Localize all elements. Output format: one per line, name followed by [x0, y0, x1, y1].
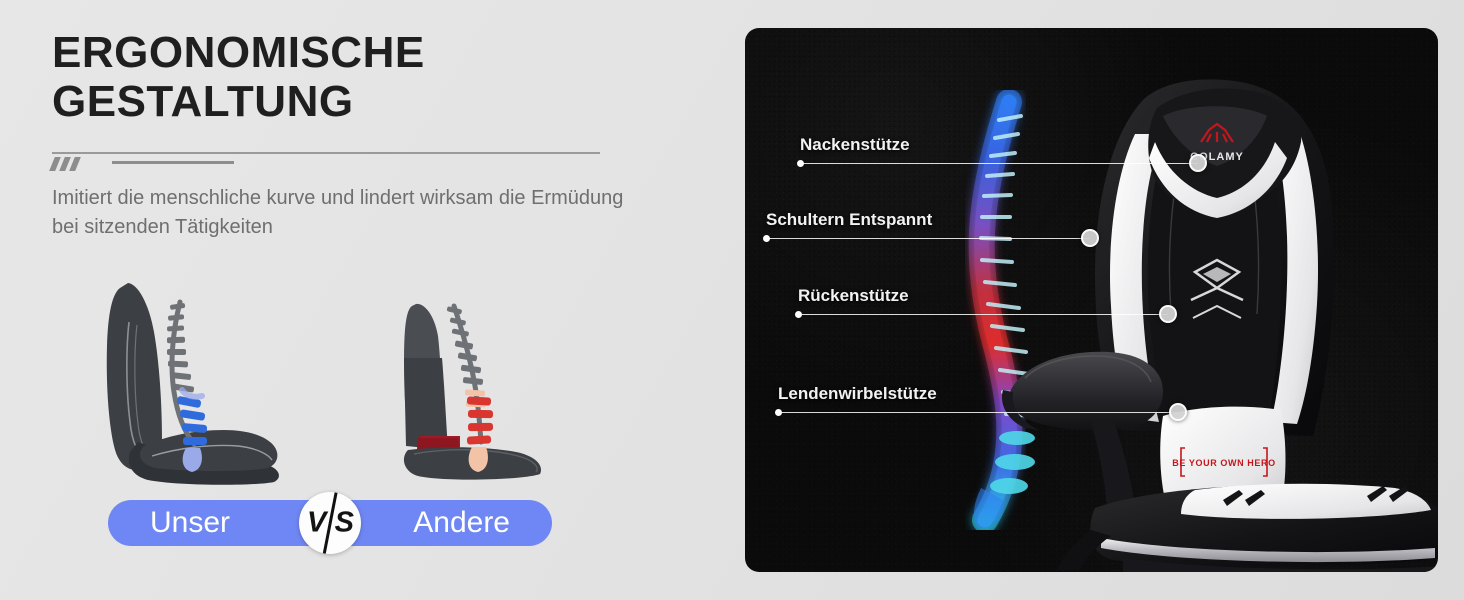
callout-label-back: Rückenstütze — [798, 286, 909, 306]
callout-start-dot — [763, 235, 770, 242]
callout-end-marker — [1081, 229, 1099, 247]
promo-banner: ERGONOMISCHE GESTALTUNG Imitiert die men… — [0, 0, 1464, 600]
vs-badge-icon: V S — [299, 492, 361, 554]
callout-start-dot — [797, 160, 804, 167]
callout-back: Rückenstütze — [798, 314, 1168, 315]
subtitle-text: Imitiert die menschliche kurve und linde… — [52, 184, 652, 242]
vs-right-letter: S — [335, 507, 354, 540]
callout-label-neck: Nackenstütze — [800, 135, 910, 155]
callout-start-dot — [775, 409, 782, 416]
callout-line — [778, 412, 1178, 413]
callout-end-marker — [1159, 305, 1177, 323]
callout-label-lumbar: Lendenwirbelstütze — [778, 384, 937, 404]
seat-cushion — [1090, 484, 1438, 572]
callout-neck: Nackenstütze — [800, 163, 1198, 164]
comparison-illustrations — [52, 270, 612, 490]
left-content-column: ERGONOMISCHE GESTALTUNG Imitiert die men… — [0, 0, 720, 600]
headline-line-2: GESTALTUNG — [52, 77, 672, 126]
our-chair-illustration — [82, 270, 312, 490]
comparison-toggle-bar[interactable]: Unser Andere V S — [108, 500, 552, 546]
vs-left-letter: V — [307, 507, 326, 540]
label-theirs[interactable]: Andere — [413, 500, 510, 546]
gaming-chair-photo: COLAMY BE YOUR OWN HERO — [995, 38, 1438, 572]
callout-line — [800, 163, 1198, 164]
callout-end-marker — [1189, 154, 1207, 172]
divider-accent-rule — [112, 161, 234, 164]
label-ours[interactable]: Unser — [150, 500, 230, 546]
callout-line — [766, 238, 1090, 239]
headline-line-1: ERGONOMISCHE — [52, 28, 672, 77]
product-photo-panel: COLAMY BE YOUR OWN HERO — [745, 28, 1438, 572]
page-title: ERGONOMISCHE GESTALTUNG — [52, 28, 672, 127]
title-divider — [52, 152, 600, 174]
divider-top-rule — [52, 152, 600, 154]
slash-marks-icon — [52, 157, 92, 171]
callout-label-shoulders: Schultern Entspannt — [766, 210, 932, 230]
callout-start-dot — [795, 311, 802, 318]
svg-text:BE YOUR OWN HERO: BE YOUR OWN HERO — [1172, 458, 1275, 468]
callout-line — [798, 314, 1168, 315]
callout-end-marker — [1169, 403, 1187, 421]
other-chair-illustration — [348, 270, 578, 490]
callout-shoulders: Schultern Entspannt — [766, 238, 1090, 239]
callout-lumbar: Lendenwirbelstütze — [778, 412, 1178, 413]
